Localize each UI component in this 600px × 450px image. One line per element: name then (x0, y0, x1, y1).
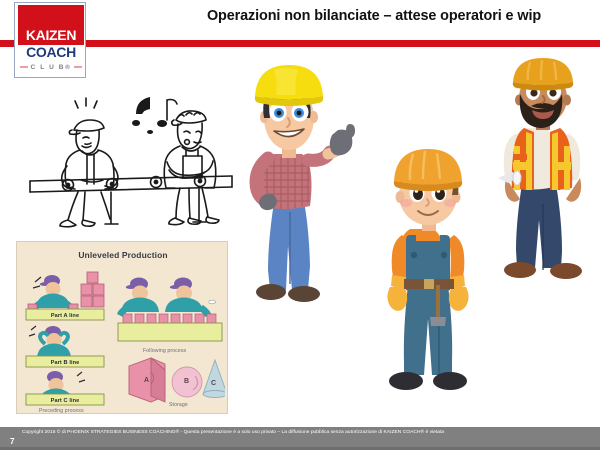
caption-storage: Storage (169, 402, 188, 408)
caption-preceding-process: Preceding process (39, 408, 84, 414)
preceding-process-operators-svg (25, 264, 117, 406)
storage-shapes-svg (125, 354, 225, 406)
page-number: 7 (10, 437, 14, 446)
bench-label-part-a: Part A line (26, 313, 104, 319)
slide-header: Operazioni non bilanciate – attese opera… (0, 0, 600, 60)
worker-tall-svg (238, 62, 364, 302)
following-process-svg (117, 274, 223, 344)
page-title: Operazioni non bilanciate – attese opera… (150, 8, 598, 24)
logo-text-club: C L U B® (31, 64, 72, 71)
unleveled-production-diagram: Unleveled Production (16, 241, 228, 414)
shape-letter-b: B (184, 378, 189, 385)
cartoon-two-workers-conveyor (28, 84, 234, 229)
shape-letter-a: A (144, 377, 149, 384)
blueprint-roll (498, 171, 522, 185)
worker-young-svg (380, 145, 498, 393)
shape-letter-c: C (211, 380, 216, 387)
logo-club-rule-left (20, 66, 28, 68)
unleveled-production-title: Unleveled Production (17, 250, 228, 260)
illustration-worker-yellow-helmet-thumbs-up (238, 62, 364, 302)
logo-text-kaizen: KAIZEN (15, 28, 87, 42)
bench-label-part-b: Part B line (26, 360, 104, 366)
header-accent-rule (0, 40, 600, 47)
worker-bearded-svg (498, 58, 600, 284)
logo-text-coach: COACH (15, 45, 87, 59)
illustration-bearded-worker-safety-vest (498, 58, 600, 284)
logo-club-row: C L U B® (20, 62, 82, 72)
kaizen-coach-club-logo[interactable]: KAIZEN COACH C L U B® (14, 2, 86, 78)
footer-copyright-text: Copyright 2015 © di PHOENIX STRATEGIES B… (22, 430, 594, 435)
cartoon-line-art-svg (28, 84, 234, 229)
illustration-young-worker-overalls (380, 145, 498, 393)
logo-club-rule-right (74, 66, 82, 68)
bench-label-part-c: Part C line (26, 398, 104, 404)
